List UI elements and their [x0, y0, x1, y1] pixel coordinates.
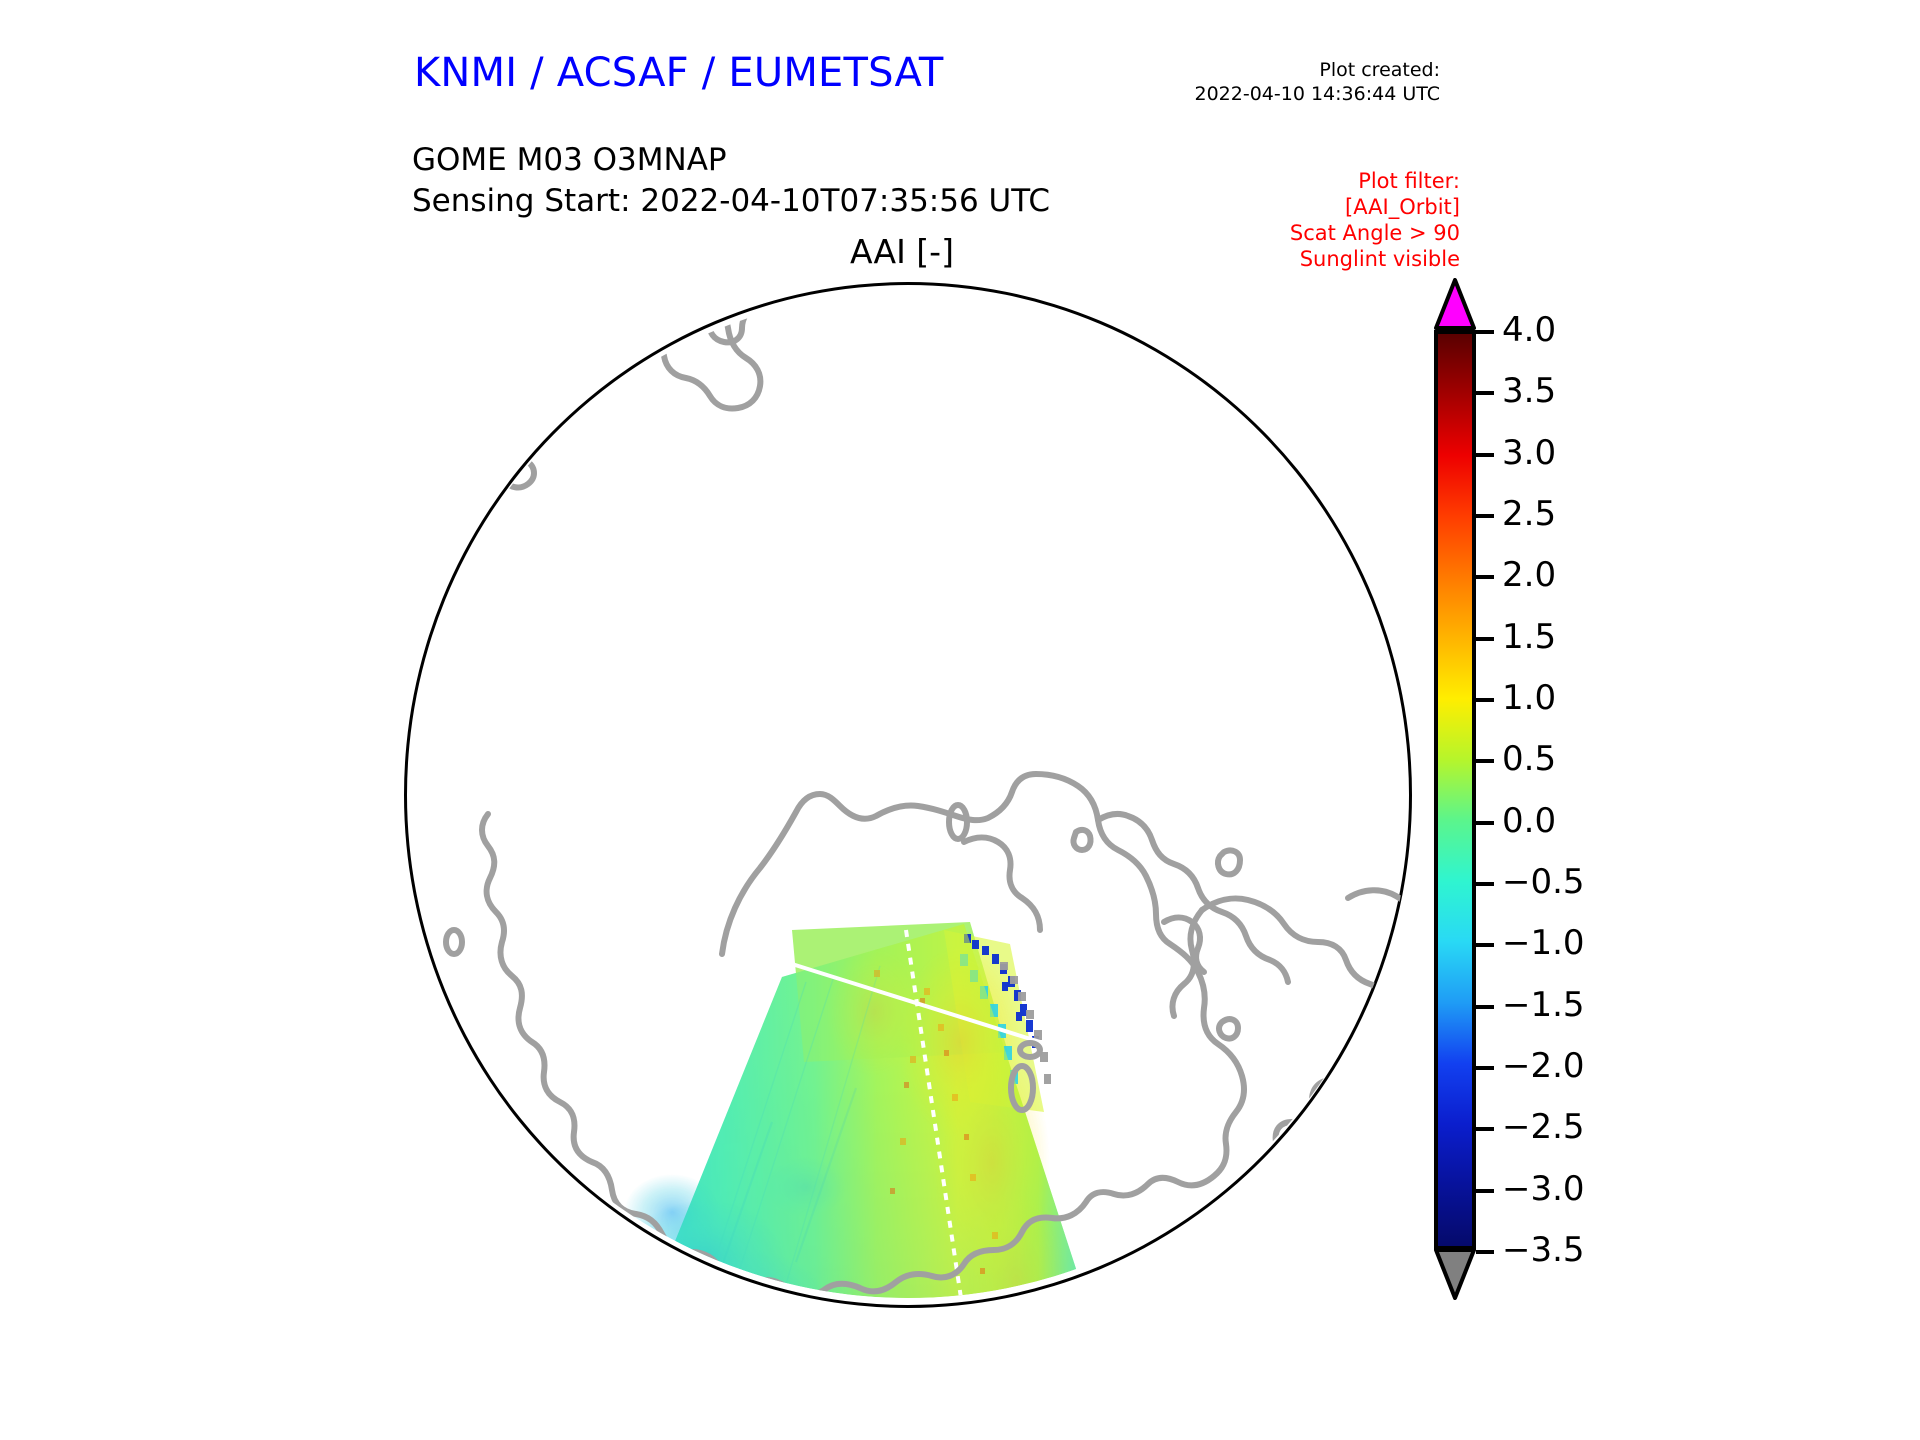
- island-sliver-2: [1218, 850, 1240, 874]
- aai-data-swath: [620, 922, 1092, 1372]
- colorbar-tick-label-4: 2.0: [1502, 558, 1556, 592]
- plot-created-label: Plot created:: [1195, 58, 1441, 82]
- colorbar-tick-3: [1476, 514, 1494, 518]
- colorbar-tick-label-13: −2.5: [1502, 1110, 1585, 1144]
- colorbar-tick-label-5: 1.5: [1502, 620, 1556, 654]
- australia-limb: [364, 320, 465, 378]
- colorbar-tick-label-9: −0.5: [1502, 865, 1585, 899]
- colorbar-tick-label-15: −3.5: [1502, 1233, 1585, 1267]
- colorbar-tick-9: [1476, 882, 1494, 886]
- colorbar: 4.03.53.02.52.01.51.00.50.0−0.5−1.0−1.5−…: [1432, 280, 1732, 1310]
- tasmania: [451, 409, 534, 488]
- colorbar-tick-label-1: 3.5: [1502, 374, 1556, 408]
- colorbar-tick-4: [1476, 575, 1494, 579]
- colorbar-tick-15: [1476, 1250, 1494, 1254]
- map-panel: [404, 282, 1420, 1314]
- plot-filter-product: [AAI_Orbit]: [1290, 194, 1460, 220]
- colorbar-tick-label-6: 1.0: [1502, 681, 1556, 715]
- island-sliver-1: [1073, 830, 1090, 850]
- new-zealand-south-island: [644, 297, 760, 409]
- plot-title-text: AAI [-]: [850, 232, 954, 271]
- plot-title: AAI [-]: [0, 232, 1920, 271]
- ross-sea-inlet: [964, 838, 1040, 931]
- colorbar-tick-13: [1476, 1127, 1494, 1131]
- colorbar-tick-14: [1476, 1189, 1494, 1193]
- colorbar-tick-label-0: 4.0: [1502, 313, 1556, 347]
- colorbar-tick-label-11: −1.5: [1502, 988, 1585, 1022]
- colorbar-tick-label-12: −2.0: [1502, 1049, 1585, 1083]
- island-small-1: [949, 805, 967, 839]
- south-america-patagonia: [1202, 898, 1392, 1194]
- colorbar-tick-0: [1476, 330, 1494, 334]
- organization-title: KNMI / ACSAF / EUMETSAT: [414, 50, 944, 96]
- colorbar-tick-8: [1476, 821, 1494, 825]
- colorbar-tick-7: [1476, 759, 1494, 763]
- colorbar-tick-12: [1476, 1066, 1494, 1070]
- colorbar-tick-label-7: 0.5: [1502, 742, 1556, 776]
- colorbar-tick-2: [1476, 453, 1494, 457]
- plot-created-timestamp: 2022-04-10 14:36:44 UTC: [1195, 82, 1441, 106]
- island-balleny: [446, 930, 462, 954]
- map-graphics: [404, 282, 1418, 1314]
- colorbar-tick-6: [1476, 698, 1494, 702]
- colorbar-tick-label-3: 2.5: [1502, 497, 1556, 531]
- colorbar-tick-label-2: 3.0: [1502, 436, 1556, 470]
- colorbar-tick-5: [1476, 637, 1494, 641]
- south-georgia: [1348, 890, 1426, 954]
- dataset-metadata: GOME M03 O3MNAP Sensing Start: 2022-04-1…: [412, 140, 1050, 222]
- falkland-islands: [1219, 1019, 1238, 1038]
- colorbar-tick-10: [1476, 943, 1494, 947]
- colorbar-tick-label-10: −1.0: [1502, 926, 1585, 960]
- colorbar-ticks: 4.03.53.02.52.01.51.00.50.0−0.5−1.0−1.5−…: [1432, 280, 1732, 1310]
- colorbar-tick-11: [1476, 1005, 1494, 1009]
- instrument-product-line: GOME M03 O3MNAP: [412, 140, 1050, 181]
- plot-created-block: Plot created: 2022-04-10 14:36:44 UTC: [1195, 58, 1441, 106]
- plot-filter-label: Plot filter:: [1290, 168, 1460, 194]
- colorbar-tick-1: [1476, 391, 1494, 395]
- colorbar-tick-label-8: 0.0: [1502, 804, 1556, 838]
- colorbar-tick-label-14: −3.0: [1502, 1172, 1585, 1206]
- sensing-start-line: Sensing Start: 2022-04-10T07:35:56 UTC: [412, 181, 1050, 222]
